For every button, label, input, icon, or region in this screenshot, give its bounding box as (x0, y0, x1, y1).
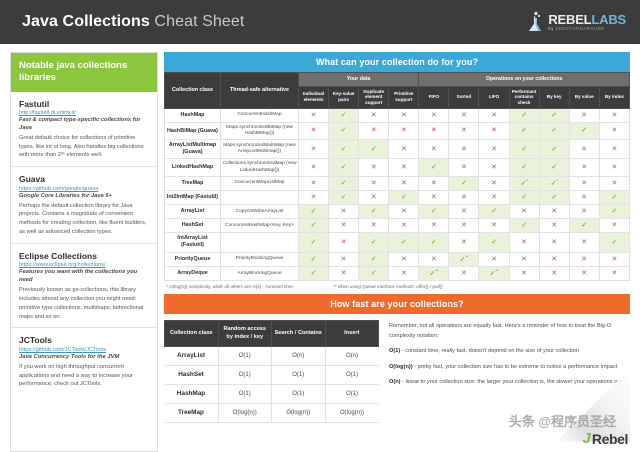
legend-intro: Remember, not all operations are equally… (389, 322, 630, 341)
table-row: ArrayListO(1)O(n)O(n) (165, 346, 379, 365)
cell-supported: ✓ (539, 108, 569, 122)
cell-supported: ✓ (389, 191, 419, 205)
th-col-performant-contains-check: Performant contains check (509, 86, 539, 108)
cell-unsupported: ✕ (449, 140, 479, 159)
cross-icon: ✕ (341, 239, 347, 246)
cell-supported: ✓ (479, 205, 509, 219)
cell-unsupported: ✕ (539, 205, 569, 219)
cross-icon: ✕ (461, 208, 467, 215)
cell-collection-class: HashMap (165, 384, 219, 403)
cell-thread-safe-alt: Maps.synchronizedMultiMap (new ArrayList… (221, 140, 299, 159)
cross-icon: ✕ (581, 164, 587, 171)
cell-collection-class: Int2IntMap (Fastutil) (165, 191, 221, 205)
check-icon: ✓ (551, 194, 557, 201)
library-url-link[interactable]: https://github.com/JCTools/JCTools (19, 347, 149, 353)
cell-unsupported: ✕ (389, 252, 419, 266)
cell-unsupported: ✕ (539, 266, 569, 280)
cell-supported: ✓ (329, 176, 359, 190)
legend-text: - pretty fast, your collection size has … (413, 364, 618, 370)
cell-unsupported: ✕ (569, 205, 599, 219)
cross-icon: ✕ (581, 270, 587, 277)
cross-icon: ✕ (311, 164, 317, 171)
th-col-key-value-pairs: Key-value pairs (329, 86, 359, 108)
cell-collection-class: HashSet (165, 219, 221, 233)
feature-table-footnotes: * O(log(n)) complexity, while all others… (164, 281, 630, 289)
cross-icon: ✕ (551, 239, 557, 246)
cell-unsupported: ✕ (569, 140, 599, 159)
cell-unsupported: ✕ (539, 219, 569, 233)
cross-icon: ✕ (311, 180, 317, 187)
cell-unsupported: ✕ (509, 266, 539, 280)
cell-supported: ✓ (359, 205, 389, 219)
check-icon: ✓ (461, 180, 467, 187)
th-speed-col: Insert (325, 321, 379, 347)
cell-unsupported: ✕ (449, 122, 479, 139)
cross-icon: ✕ (491, 194, 497, 201)
th-speed-col: Collection class (165, 321, 219, 347)
cell-supported: ✓ (419, 205, 449, 219)
cell-supported: ✓ (419, 159, 449, 176)
cell-complexity: O(1) (218, 346, 272, 365)
check-icon: ✓ (311, 208, 317, 215)
feature-table-band: What can your collection do for you? (164, 52, 630, 72)
cross-icon: ✕ (371, 180, 377, 187)
cell-unsupported: ✕ (329, 252, 359, 266)
brand-by: by (548, 26, 555, 31)
cross-icon: ✕ (581, 256, 587, 263)
check-icon: ✓ (311, 222, 317, 229)
legend-term: O(log(n)) (389, 364, 413, 370)
check-icon: ✓ (551, 146, 557, 153)
cell-unsupported: ✕ (329, 205, 359, 219)
cell-unsupported: ✕ (599, 159, 629, 176)
library-tagline: Fast & compact type-specific collections… (19, 117, 149, 133)
library-description: Perhaps the default collection library f… (19, 202, 149, 237)
cross-icon: ✕ (431, 146, 437, 153)
cell-unsupported: ✕ (509, 205, 539, 219)
cell-unsupported: ✕ (479, 140, 509, 159)
cell-unsupported: ✕ (299, 122, 329, 139)
cell-supported: ✓ (599, 233, 629, 252)
cell-unsupported: ✕ (419, 219, 449, 233)
cell-unsupported: ✕ (329, 219, 359, 233)
legend-text: - linear to your collection size: the la… (401, 379, 623, 385)
cell-supported: ✓ (449, 176, 479, 190)
speed-table-header-row: Collection classRandom access by index /… (165, 321, 379, 347)
cell-unsupported: ✕ (569, 266, 599, 280)
cross-icon: ✕ (611, 146, 617, 153)
cell-supported: ✓ (419, 233, 449, 252)
cell-unsupported: ✕ (569, 108, 599, 122)
main-content: What can your collection do for you? Col… (164, 52, 630, 452)
check-icon: ✓ (371, 239, 377, 246)
cross-icon: ✕ (461, 239, 467, 246)
jrebel-wordmark: Rebel (592, 434, 628, 446)
cell-unsupported: ✕ (479, 191, 509, 205)
cell-supported: ✓ (509, 108, 539, 122)
feature-table: Collection class Thread-safe alternative… (164, 72, 630, 281)
cell-supported: ✓ (479, 233, 509, 252)
cross-icon: ✕ (401, 270, 407, 277)
cell-footnote-marker: ** (435, 269, 438, 273)
cell-complexity: O(1) (218, 365, 272, 384)
cell-unsupported: ✕ (449, 108, 479, 122)
cross-icon: ✕ (461, 146, 467, 153)
library-description: Previously known as gs-collections, this… (19, 286, 149, 321)
check-icon: ✓ (431, 164, 437, 171)
rebellabs-logo: REBELLABS by ZEROTURNAROUND (526, 11, 626, 33)
cell-unsupported: ✕ (299, 140, 329, 159)
th-thread-safe: Thread-safe alternative (221, 73, 299, 109)
cross-icon: ✕ (341, 270, 347, 277)
cell-unsupported: ✕ (419, 176, 449, 190)
cross-icon: ✕ (551, 270, 557, 277)
cell-unsupported: ✕ (449, 266, 479, 280)
cell-complexity: O(log(n)) (325, 403, 379, 422)
cross-icon: ✕ (401, 164, 407, 171)
cell-supported: ✓ (299, 219, 329, 233)
cell-unsupported: ✕ (359, 159, 389, 176)
check-icon: ✓ (371, 256, 377, 263)
feature-table-head: Collection class Thread-safe alternative… (165, 73, 630, 109)
library-url-link[interactable]: http://fastutil.di.unimi.it/ (19, 110, 149, 116)
cell-unsupported: ✕ (479, 159, 509, 176)
cross-icon: ✕ (611, 180, 617, 187)
check-icon: ✓ (401, 239, 407, 246)
cell-supported: ✓ (329, 159, 359, 176)
cell-unsupported: ✕ (539, 233, 569, 252)
cell-unsupported: ✕ (389, 122, 419, 139)
library-tagline: Java Concurrency Tools for the JVM (19, 354, 149, 362)
th-col-individual-elements: Individual elements (299, 86, 329, 108)
cell-unsupported: ✕ (359, 219, 389, 233)
cell-supported: ✓ (329, 140, 359, 159)
cell-thread-safe-alt: ConcurrentHashMap (221, 108, 299, 122)
table-row: TreeMapO(log(n))O(log(n))O(log(n)) (165, 403, 379, 422)
th-speed-col: Random access by index / key (218, 321, 272, 347)
cross-icon: ✕ (401, 127, 407, 134)
check-icon: ✓ (431, 208, 437, 215)
cell-supported: ✓ (569, 219, 599, 233)
cross-icon: ✕ (461, 164, 467, 171)
cell-collection-class: ArrayDeque (165, 266, 221, 280)
cell-unsupported: ✕ (389, 205, 419, 219)
cross-icon: ✕ (581, 112, 587, 119)
check-icon: ✓ (611, 239, 617, 246)
speed-table-body: ArrayListO(1)O(n)O(n)HashSetO(1)O(1)O(1)… (165, 346, 379, 422)
footnote-right: ** when using Queue interface methods: o… (333, 284, 443, 289)
cell-complexity: O(1) (218, 384, 272, 403)
cell-supported: ✓ (599, 191, 629, 205)
table-row: TreeMapConcurrentMapListMap✕✓✕✕✕✓✕✓*✓*✕✕ (165, 176, 630, 190)
cross-icon: ✕ (311, 146, 317, 153)
cell-supported: ✓ (299, 233, 329, 252)
th-col-primitive-support: Primitive support (389, 86, 419, 108)
cross-icon: ✕ (611, 270, 617, 277)
cell-collection-class: ArrayListMultimap (Guava) (165, 140, 221, 159)
watermark-text: 头条 @程序员圣经 (509, 411, 616, 430)
cell-supported: ✓ (389, 233, 419, 252)
cell-collection-class: ArrayList (165, 346, 219, 365)
check-icon: ✓ (341, 194, 347, 201)
check-icon: ✓ (521, 164, 527, 171)
cell-supported: ✓** (479, 266, 509, 280)
cross-icon: ✕ (341, 208, 347, 215)
cell-unsupported: ✕ (419, 108, 449, 122)
cross-icon: ✕ (521, 208, 527, 215)
legend-term: O(1) (389, 348, 400, 354)
cross-icon: ✕ (431, 222, 437, 229)
feature-table-body: HashMapConcurrentHashMap✕✓✕✕✕✕✕✓✓✕✕HashB… (165, 108, 630, 281)
cell-unsupported: ✕ (299, 159, 329, 176)
library-url-link[interactable]: https://github.com/google/guava (19, 186, 149, 192)
check-icon: ✓ (341, 180, 347, 187)
cross-icon: ✕ (491, 164, 497, 171)
check-icon: ✓ (521, 194, 527, 201)
cell-unsupported: ✕ (509, 252, 539, 266)
cell-complexity: O(1) (325, 365, 379, 384)
cell-supported: ✓ (359, 252, 389, 266)
cell-supported: ✓ (509, 122, 539, 139)
cross-icon: ✕ (521, 270, 527, 277)
cell-unsupported: ✕ (389, 140, 419, 159)
brand-primary: REBEL (548, 12, 591, 27)
cheat-sheet-page: Java Collections Cheat Sheet REBELLABS b… (0, 0, 640, 452)
cross-icon: ✕ (401, 208, 407, 215)
library-entry: Guavahttps://github.com/google/guavaGoog… (11, 167, 157, 244)
cell-supported: ✓ (359, 140, 389, 159)
check-icon: ✓ (341, 146, 347, 153)
cross-icon: ✕ (581, 180, 587, 187)
cell-unsupported: ✕ (479, 176, 509, 190)
cell-unsupported: ✕ (419, 122, 449, 139)
cell-complexity: O(1) (272, 384, 326, 403)
library-name: JCTools (19, 335, 149, 345)
speed-table-band: How fast are your collections? (164, 294, 630, 314)
cell-supported: ✓ (539, 122, 569, 139)
cell-unsupported: ✕ (389, 108, 419, 122)
th-col-fifo: FIFO (419, 86, 449, 108)
cell-unsupported: ✕ (449, 205, 479, 219)
cross-icon: ✕ (491, 256, 497, 263)
table-row: LinkedHashMapCollections.synchronizedMap… (165, 159, 630, 176)
cross-icon: ✕ (581, 208, 587, 215)
cross-icon: ✕ (311, 194, 317, 201)
page-title-bold: Java Collections (22, 13, 150, 30)
jrebel-logo: J Rebel (583, 433, 628, 446)
cell-supported: ✓ (599, 205, 629, 219)
cross-icon: ✕ (581, 194, 587, 201)
cell-unsupported: ✕ (599, 266, 629, 280)
cross-icon: ✕ (371, 164, 377, 171)
cross-icon: ✕ (551, 256, 557, 263)
cross-icon: ✕ (491, 127, 497, 134)
cell-unsupported: ✕ (449, 159, 479, 176)
cell-supported: ✓ (509, 219, 539, 233)
cell-unsupported: ✕ (509, 233, 539, 252)
cell-supported: ✓ (299, 205, 329, 219)
check-icon: ✓ (551, 127, 557, 134)
cell-supported: ✓ (509, 191, 539, 205)
library-description: If you work on high throughput concurren… (19, 363, 149, 389)
cell-unsupported: ✕ (359, 176, 389, 190)
cell-unsupported: ✕ (479, 252, 509, 266)
cell-supported: ✓ (539, 140, 569, 159)
cross-icon: ✕ (371, 112, 377, 119)
table-row: HashMapO(1)O(1)O(1) (165, 384, 379, 403)
cell-complexity: O(log(n)) (272, 403, 326, 422)
check-icon: ✓ (611, 208, 617, 215)
sidebar-heading: Notable java collections libraries (11, 53, 157, 92)
check-icon: ✓ (521, 112, 527, 119)
table-row: ArrayListMultimap (Guava)Maps.synchroniz… (165, 140, 630, 159)
cross-icon: ✕ (401, 180, 407, 187)
rebellabs-mark-icon (526, 11, 544, 33)
check-icon: ✓ (431, 239, 437, 246)
cell-complexity: O(1) (272, 365, 326, 384)
cell-collection-class: HashMap (165, 108, 221, 122)
cross-icon: ✕ (431, 256, 437, 263)
library-tagline: Google Core Libraries for Java 6+ (19, 193, 149, 201)
cross-icon: ✕ (491, 222, 497, 229)
legend-item: O(log(n)) - pretty fast, your collection… (389, 363, 630, 373)
cross-icon: ✕ (551, 222, 557, 229)
check-icon: ✓ (311, 239, 317, 246)
library-description: Great default choice for collections of … (19, 134, 149, 160)
cell-unsupported: ✕ (359, 108, 389, 122)
cross-icon: ✕ (431, 194, 437, 201)
cell-unsupported: ✕ (569, 233, 599, 252)
cell-supported: ✓** (449, 252, 479, 266)
cross-icon: ✕ (581, 239, 587, 246)
cell-thread-safe-alt: Collections.synchronizedMap (new LinkedH… (221, 159, 299, 176)
cross-icon: ✕ (611, 222, 617, 229)
cell-unsupported: ✕ (599, 140, 629, 159)
check-icon: ✓ (551, 164, 557, 171)
cell-unsupported: ✕ (419, 191, 449, 205)
check-icon: ✓ (371, 146, 377, 153)
cell-supported: ✓ (359, 233, 389, 252)
cross-icon: ✕ (611, 112, 617, 119)
cross-icon: ✕ (401, 256, 407, 263)
library-entry: JCToolshttps://github.com/JCTools/JCTool… (11, 328, 157, 395)
cell-complexity: O(1) (325, 384, 379, 403)
cross-icon: ✕ (611, 127, 617, 134)
legend-item: O(n) - linear to your collection size: t… (389, 378, 630, 388)
library-url-link[interactable]: https://www.eclipse.org/collections/ (19, 262, 149, 268)
table-row: HashSetConcurrentHashMap<Key, Key>✓✕✕✕✕✕… (165, 219, 630, 233)
check-icon: ✓ (551, 112, 557, 119)
cell-thread-safe-alt: PriorityBlockingQueue (221, 252, 299, 266)
check-icon: ✓ (581, 127, 587, 134)
th-col-lifo: LIFO (479, 86, 509, 108)
cell-supported: ✓ (329, 122, 359, 139)
check-icon: ✓ (491, 208, 497, 215)
check-icon: ✓ (401, 194, 407, 201)
table-row: HashBiMap (Guava)Maps.synchronizedBiMap … (165, 122, 630, 139)
cell-supported: ✓ (539, 159, 569, 176)
cell-collection-class: LinkedHashMap (165, 159, 221, 176)
cell-unsupported: ✕ (389, 266, 419, 280)
cross-icon: ✕ (371, 127, 377, 134)
cell-footnote-marker: * (526, 179, 527, 183)
table-row: ArrayDequeArrayBlockingQueue✓✕✓✕✓**✕✓**✕… (165, 266, 630, 280)
cell-thread-safe-alt (221, 233, 299, 252)
cell-unsupported: ✕ (299, 108, 329, 122)
cross-icon: ✕ (431, 127, 437, 134)
th-your-data: Your data (299, 73, 419, 87)
cross-icon: ✕ (551, 208, 557, 215)
cell-unsupported: ✕ (569, 252, 599, 266)
cell-supported: ✓ (509, 140, 539, 159)
sidebar-libraries: Notable java collections libraries Fastu… (10, 52, 158, 452)
cell-unsupported: ✕ (389, 219, 419, 233)
jrebel-j-mark: J (583, 433, 591, 446)
cell-footnote-marker: * (556, 179, 557, 183)
cell-collection-class: HashBiMap (Guava) (165, 122, 221, 139)
cross-icon: ✕ (341, 256, 347, 263)
cell-supported: ✓ (299, 266, 329, 280)
cell-unsupported: ✕ (449, 233, 479, 252)
th-col-duplicate-element-support: Duplicate element support (359, 86, 389, 108)
legend-text: - constant time, really fast, doesn't de… (400, 348, 579, 354)
cell-unsupported: ✕ (359, 122, 389, 139)
cell-supported: ✓* (509, 176, 539, 190)
check-icon: ✓ (311, 270, 317, 277)
cell-unsupported: ✕ (599, 252, 629, 266)
brand-secondary: LABS (591, 12, 626, 27)
cross-icon: ✕ (611, 256, 617, 263)
cross-icon: ✕ (521, 256, 527, 263)
cross-icon: ✕ (491, 112, 497, 119)
cell-unsupported: ✕ (299, 176, 329, 190)
cross-icon: ✕ (611, 164, 617, 171)
cell-collection-class: HashSet (165, 365, 219, 384)
cell-unsupported: ✕ (389, 159, 419, 176)
cell-footnote-marker: ** (465, 255, 468, 259)
cell-complexity: O(log(n)) (218, 403, 272, 422)
cell-supported: ✓ (359, 266, 389, 280)
cell-unsupported: ✕ (599, 108, 629, 122)
cell-unsupported: ✕ (329, 233, 359, 252)
cell-supported: ✓ (329, 108, 359, 122)
cell-unsupported: ✕ (419, 252, 449, 266)
cell-supported: ✓ (299, 252, 329, 266)
legend-item: O(1) - constant time, really fast, doesn… (389, 347, 630, 357)
footnote-left: * O(log(n)) complexity, while all others… (166, 284, 293, 289)
speed-section: Collection classRandom access by index /… (164, 314, 630, 423)
cross-icon: ✕ (461, 127, 467, 134)
table-row: PriorityQueuePriorityBlockingQueue✓✕✓✕✕✓… (165, 252, 630, 266)
cell-collection-class: IntArrayList (Fastutil) (165, 233, 221, 252)
cross-icon: ✕ (491, 180, 497, 187)
cross-icon: ✕ (341, 222, 347, 229)
cell-supported: ✓ (509, 159, 539, 176)
th-collection-class: Collection class (165, 73, 221, 109)
cell-collection-class: ArrayList (165, 205, 221, 219)
library-tagline: Features you want with the collections y… (19, 269, 149, 285)
cell-unsupported: ✕ (449, 219, 479, 233)
cell-unsupported: ✕ (479, 122, 509, 139)
cross-icon: ✕ (461, 194, 467, 201)
cell-unsupported: ✕ (389, 176, 419, 190)
cell-complexity: O(n) (325, 346, 379, 365)
th-operations: Operations on your collections (419, 73, 630, 87)
cell-supported: ✓ (569, 122, 599, 139)
cell-complexity: O(n) (272, 346, 326, 365)
legend-item-list: O(1) - constant time, really fast, doesn… (389, 347, 630, 388)
page-title: Java Collections Cheat Sheet (22, 13, 244, 31)
